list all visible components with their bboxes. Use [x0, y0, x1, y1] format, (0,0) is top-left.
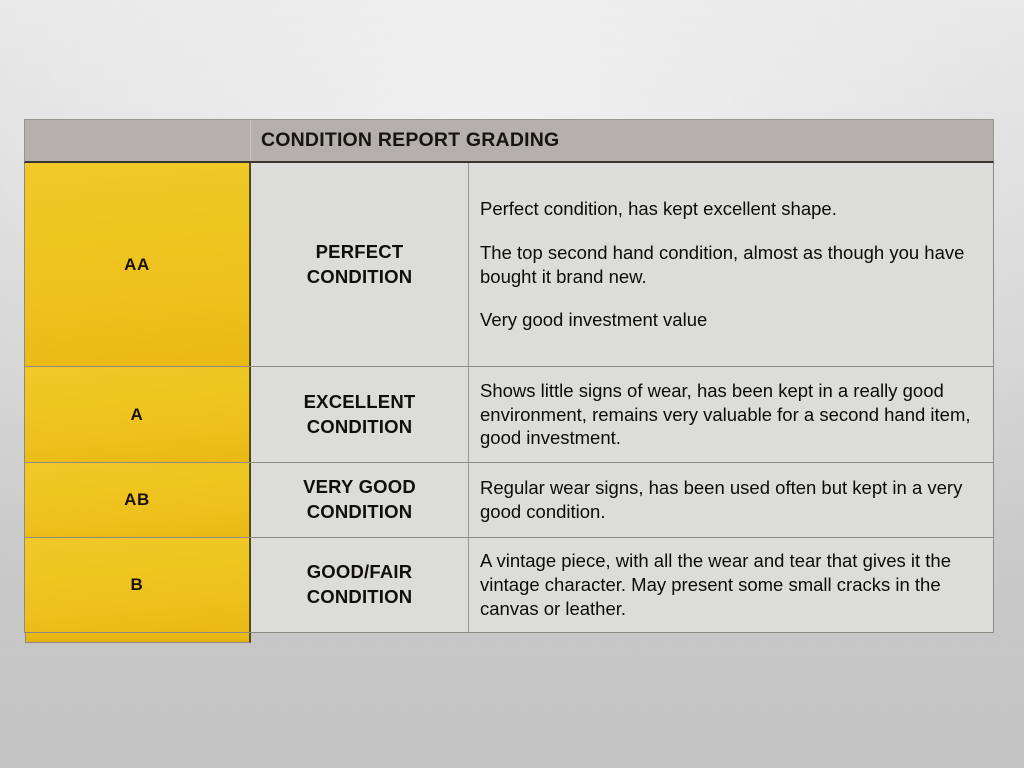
- condition-name-line-1: EXCELLENT: [304, 390, 416, 415]
- condition-name-line-1: VERY GOOD: [303, 475, 416, 500]
- table-row: AA PERFECT CONDITION Perfect condition, …: [25, 163, 993, 367]
- condition-name-cell-a: EXCELLENT CONDITION: [251, 367, 469, 462]
- condition-name-cell-b: GOOD/FAIR CONDITION: [251, 538, 469, 632]
- description-paragraph: The top second hand condition, almost as…: [480, 241, 977, 288]
- table-row: AB VERY GOOD CONDITION Regular wear sign…: [25, 463, 993, 538]
- table-header-row: CONDITION REPORT GRADING: [24, 119, 994, 163]
- grade-code-cell-b: B: [25, 538, 251, 632]
- description-paragraph: Very good investment value: [480, 308, 977, 332]
- condition-name-cell-ab: VERY GOOD CONDITION: [251, 463, 469, 537]
- table-body: AA PERFECT CONDITION Perfect condition, …: [24, 163, 994, 633]
- description-cell-ab: Regular wear signs, has been used often …: [469, 463, 993, 537]
- condition-name-line-2: CONDITION: [307, 265, 413, 290]
- grade-code-cell-a: A: [25, 367, 251, 462]
- table-row: B GOOD/FAIR CONDITION A vintage piece, w…: [25, 538, 993, 632]
- condition-name-line-2: CONDITION: [307, 500, 413, 525]
- condition-name-line-2: CONDITION: [307, 415, 413, 440]
- condition-name-line-1: GOOD/FAIR: [307, 560, 413, 585]
- condition-name-line-1: PERFECT: [316, 240, 404, 265]
- description-paragraph: Regular wear signs, has been used often …: [480, 476, 977, 523]
- table-row: A EXCELLENT CONDITION Shows little signs…: [25, 367, 993, 463]
- condition-report-grading-table: CONDITION REPORT GRADING AA PERFECT COND…: [24, 119, 994, 633]
- description-cell-aa: Perfect condition, has kept excellent sh…: [469, 163, 993, 366]
- grade-code-cell-ab: AB: [25, 463, 251, 537]
- description-paragraph: A vintage piece, with all the wear and t…: [480, 549, 977, 620]
- grade-column-overhang: [25, 633, 251, 643]
- condition-name-line-2: CONDITION: [307, 585, 413, 610]
- description-paragraph: Perfect condition, has kept excellent sh…: [480, 197, 977, 221]
- condition-name-cell-aa: PERFECT CONDITION: [251, 163, 469, 366]
- description-paragraph: Shows little signs of wear, has been kep…: [480, 379, 977, 450]
- table-title: CONDITION REPORT GRADING: [251, 120, 993, 161]
- description-cell-a: Shows little signs of wear, has been kep…: [469, 367, 993, 462]
- table-header-spacer-cell: [25, 120, 251, 161]
- description-cell-b: A vintage piece, with all the wear and t…: [469, 538, 993, 632]
- paper-photo-background: CONDITION REPORT GRADING AA PERFECT COND…: [0, 0, 1024, 768]
- grade-code-cell-aa: AA: [25, 163, 251, 366]
